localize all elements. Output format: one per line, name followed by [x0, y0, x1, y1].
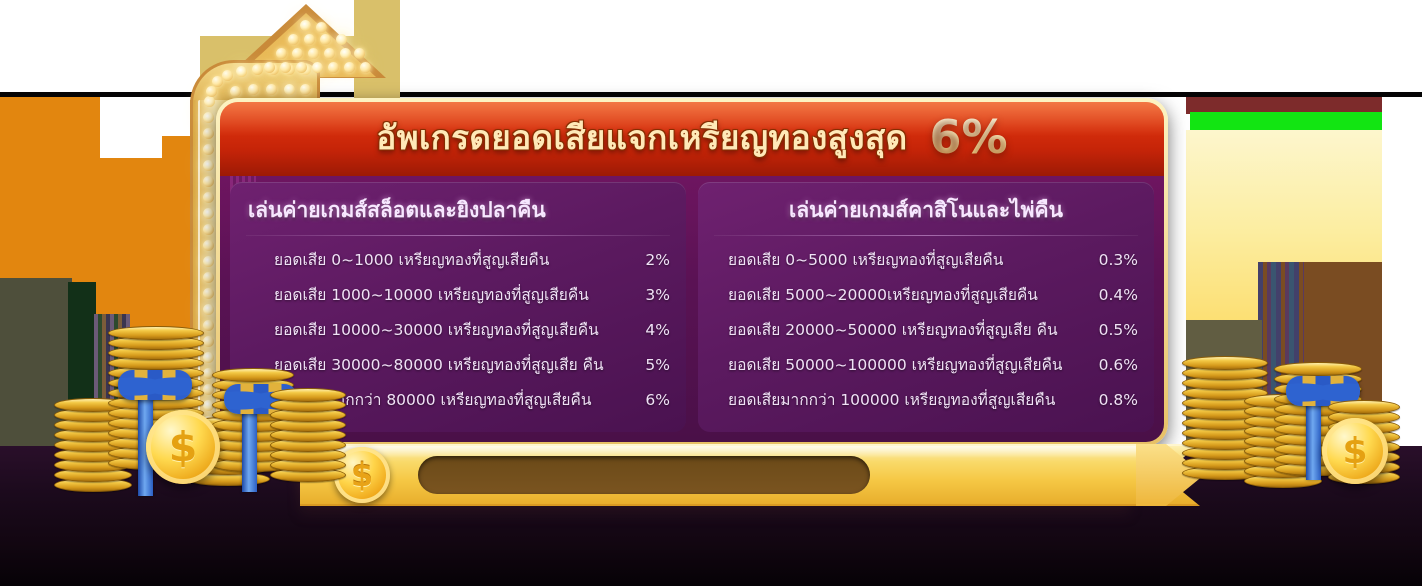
table-row: ยอดเสียมากกว่า 100000 เหรียญทองที่สูญเสี…	[712, 382, 1140, 417]
marquee-bulb	[266, 84, 277, 95]
marquee-bulb	[248, 84, 259, 95]
marquee-bulb	[324, 48, 335, 59]
row-value: 5%	[635, 356, 670, 374]
row-value: 6%	[635, 391, 670, 409]
marquee-bulb	[203, 304, 214, 315]
row-label: ยอดเสีย 50000~100000 เหรียญทองที่สูญเสีย…	[714, 352, 1063, 377]
promo-code-input[interactable]	[418, 456, 870, 494]
marquee-bulb	[204, 96, 215, 107]
row-label: ยอดเสีย 1000~10000 เหรียญทองที่สูญเสียคื…	[246, 282, 589, 307]
gift-ribbon	[242, 402, 257, 492]
row-value: 0.6%	[1089, 356, 1138, 374]
marquee-bulb	[203, 192, 214, 203]
marquee-bulb	[206, 86, 217, 97]
marquee-bulb	[203, 288, 214, 299]
marquee-bulb	[230, 86, 241, 97]
row-value: 2%	[635, 251, 670, 269]
marquee-bulb	[300, 20, 311, 31]
gift-bow	[118, 370, 192, 400]
panel-divider	[714, 235, 1138, 236]
row-value: 4%	[635, 321, 670, 339]
panel-title-casino-cards: เล่นค่ายเกมส์คาสิโนและไพ่คืน	[712, 192, 1140, 235]
coin-disc	[1182, 356, 1268, 370]
marquee-bulb	[354, 48, 365, 59]
marquee-bulb	[284, 84, 295, 95]
row-label: ยอดเสีย 0~1000 เหรียญทองที่สูญเสียคืน	[246, 247, 549, 272]
header-percent-badge: 6%	[930, 110, 1008, 164]
marquee-bulb	[203, 240, 214, 251]
marquee-bulb	[276, 48, 287, 59]
panel-title-slots-fishing: เล่นค่ายเกมส์สล็อตและยิงปลาคืน	[244, 192, 672, 235]
marquee-bulb	[203, 336, 214, 347]
marquee-bulb	[316, 22, 327, 33]
table-row: ยอดเสีย 0~1000 เหรียญทองที่สูญเสียคืน 2%	[244, 242, 672, 277]
marquee-bulb	[203, 224, 214, 235]
marquee-bulb	[328, 62, 339, 73]
marquee-bulb	[212, 76, 223, 87]
marquee-bulb	[264, 62, 275, 73]
row-label: ยอดเสีย 0~5000 เหรียญทองที่สูญเสียคืน	[714, 247, 1003, 272]
promo-card: อัพเกรดยอดเสียแจกเหรียญทองสูงสุด 6% เล่น…	[216, 98, 1168, 446]
header-title: อัพเกรดยอดเสียแจกเหรียญทองสูงสุด	[376, 111, 907, 164]
table-row: ยอดเสีย 20000~50000 เหรียญทองที่สูญเสีย …	[712, 312, 1140, 347]
marquee-bulb	[360, 62, 371, 73]
coin-disc	[1328, 400, 1400, 414]
row-value: 0.5%	[1089, 321, 1138, 339]
marquee-bulb	[222, 70, 233, 81]
row-label: ยอดเสีย 10000~30000 เหรียญทองที่สูญเสียค…	[246, 317, 599, 342]
row-value: 0.8%	[1089, 391, 1138, 409]
table-row: ยอดเสีย 1000~10000 เหรียญทองที่สูญเสียคื…	[244, 277, 672, 312]
background-block-green-right	[1190, 112, 1382, 130]
panel-casino-cards: เล่นค่ายเกมส์คาสิโนและไพ่คืน ยอดเสีย 0~5…	[698, 182, 1154, 432]
marquee-bulb	[312, 62, 323, 73]
marquee-bulb	[296, 62, 307, 73]
row-value: 3%	[635, 286, 670, 304]
gift-ribbon	[1306, 394, 1321, 480]
marquee-bulb	[203, 112, 214, 123]
row-value: 0.3%	[1089, 251, 1138, 269]
marquee-bulb	[203, 208, 214, 219]
panel-divider	[246, 235, 670, 236]
marquee-bulb	[320, 34, 331, 45]
coin-disc	[212, 368, 294, 382]
marquee-bulb	[344, 62, 355, 73]
marquee-bulb	[203, 272, 214, 283]
table-row: ยอดเสีย 0~5000 เหรียญทองที่สูญเสียคืน 0.…	[712, 242, 1140, 277]
row-label: ยอดเสียมากกว่า 100000 เหรียญทองที่สูญเสี…	[714, 387, 1055, 412]
marquee-bulb	[308, 48, 319, 59]
coin-disc	[270, 388, 346, 402]
table-row: ยอดเสีย 10000~30000 เหรียญทองที่สูญเสียค…	[244, 312, 672, 347]
marquee-bulb	[340, 48, 351, 59]
marquee-bulb	[203, 160, 214, 171]
dollar-coin-symbol: $	[351, 456, 373, 494]
marquee-bulb	[292, 48, 303, 59]
coin-disc	[108, 326, 204, 340]
dollar-coin-symbol: $	[1342, 431, 1367, 472]
marquee-bulb	[203, 176, 214, 187]
card-header: อัพเกรดยอดเสียแจกเหรียญทองสูงสุด 6%	[220, 102, 1164, 176]
marquee-bulb	[288, 34, 299, 45]
coin-cluster-left: $	[34, 360, 334, 510]
marquee-bulb	[203, 256, 214, 267]
background-block-orange-left-top	[0, 96, 100, 156]
marquee-bulb	[280, 62, 291, 73]
row-value: 0.4%	[1089, 286, 1138, 304]
row-label: ยอดเสีย 5000~20000เหรียญทองที่สูญเสียคืน	[714, 282, 1038, 307]
dollar-coin-symbol: $	[169, 423, 198, 471]
dollar-coin-icon: $	[1322, 418, 1388, 484]
dollar-coin-icon: $	[146, 410, 220, 484]
marquee-bulb	[236, 66, 247, 77]
coin-cluster-right: $	[1178, 370, 1388, 510]
table-row: ยอดเสีย 50000~100000 เหรียญทองที่สูญเสีย…	[712, 347, 1140, 382]
promo-banner: อัพเกรดยอดเสียแจกเหรียญทองสูงสุด 6% เล่น…	[0, 0, 1422, 586]
coin-disc	[1274, 362, 1362, 376]
bottom-gold-bar: $	[300, 444, 1230, 506]
marquee-bulb	[203, 128, 214, 139]
marquee-bulb	[336, 34, 347, 45]
marquee-bulb	[300, 84, 311, 95]
marquee-bulb	[203, 144, 214, 155]
marquee-bulb	[304, 34, 315, 45]
row-label: ยอดเสีย 20000~50000 เหรียญทองที่สูญเสีย …	[714, 317, 1058, 342]
marquee-bulb	[203, 320, 214, 331]
table-row: ยอดเสีย 5000~20000เหรียญทองที่สูญเสียคืน…	[712, 277, 1140, 312]
marquee-bulb	[252, 64, 263, 75]
card-body: เล่นค่ายเกมส์สล็อตและยิงปลาคืน ยอดเสีย 0…	[220, 176, 1164, 442]
header-content: อัพเกรดยอดเสียแจกเหรียญทองสูงสุด 6%	[220, 102, 1164, 176]
